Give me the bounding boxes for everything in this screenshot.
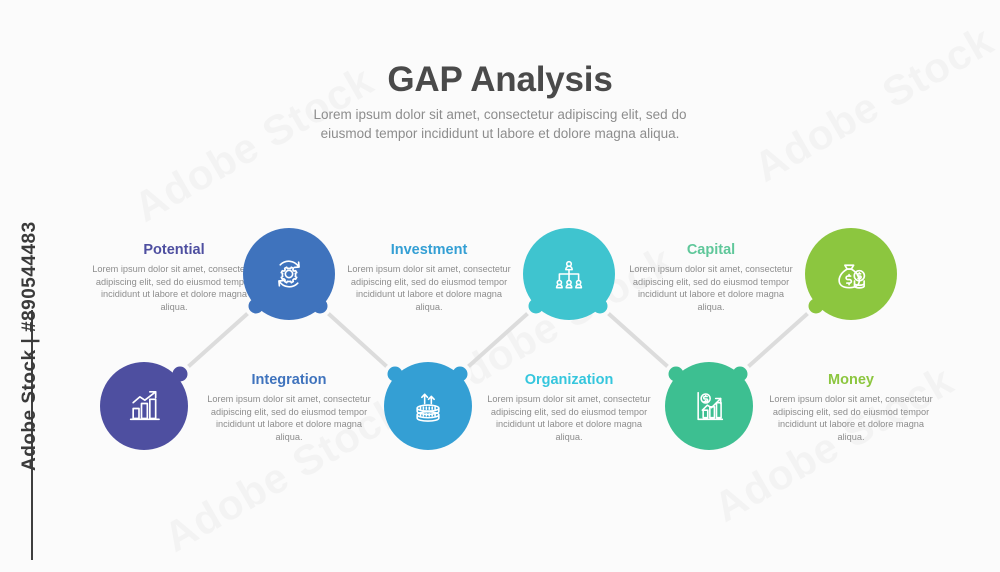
item-desc-organization: Lorem ipsum dolor sit amet, consectetur … [483, 393, 655, 443]
node-circle-integration[interactable] [243, 228, 335, 320]
org-chart-icon [548, 253, 590, 295]
item-label-investment: Investment [343, 242, 515, 258]
node-circle-investment[interactable] [384, 362, 472, 450]
item-label-organization: Organization [483, 372, 655, 388]
connector-line-5 [740, 306, 816, 374]
connector-line-4 [600, 306, 676, 374]
money-bag-icon [830, 253, 872, 295]
text-block-potential: Potential Lorem ipsum dolor sit amet, co… [88, 242, 260, 313]
connector-line-1 [180, 306, 256, 374]
item-desc-capital: Lorem ipsum dolor sit amet, consectetur … [625, 263, 797, 313]
item-desc-potential: Lorem ipsum dolor sit amet, consectetur … [88, 263, 260, 313]
coins-growth-icon [408, 386, 448, 426]
money-chart-icon [689, 386, 729, 426]
node-circle-capital[interactable] [665, 362, 753, 450]
text-block-capital: Capital Lorem ipsum dolor sit amet, cons… [625, 242, 797, 313]
item-label-money: Money [765, 372, 937, 388]
node-circle-organization[interactable] [523, 228, 615, 320]
gear-process-icon [268, 253, 310, 295]
text-block-money: Money Lorem ipsum dolor sit amet, consec… [765, 372, 937, 443]
connector-line-2 [320, 306, 395, 374]
text-block-investment: Investment Lorem ipsum dolor sit amet, c… [343, 242, 515, 313]
bar-chart-growth-icon [124, 386, 164, 426]
infographic-stage: Adobe Stock Adobe Stock Adobe Stock Adob… [0, 0, 1000, 572]
item-desc-integration: Lorem ipsum dolor sit amet, consectetur … [203, 393, 375, 443]
item-desc-investment: Lorem ipsum dolor sit amet, consectetur … [343, 263, 515, 313]
item-label-capital: Capital [625, 242, 797, 258]
node-circle-money[interactable] [805, 228, 897, 320]
item-label-potential: Potential [88, 242, 260, 258]
text-block-organization: Organization Lorem ipsum dolor sit amet,… [483, 372, 655, 443]
item-label-integration: Integration [203, 372, 375, 388]
node-circle-potential[interactable] [100, 362, 188, 450]
connector-line-3 [460, 306, 536, 374]
text-block-integration: Integration Lorem ipsum dolor sit amet, … [203, 372, 375, 443]
item-desc-money: Lorem ipsum dolor sit amet, consectetur … [765, 393, 937, 443]
